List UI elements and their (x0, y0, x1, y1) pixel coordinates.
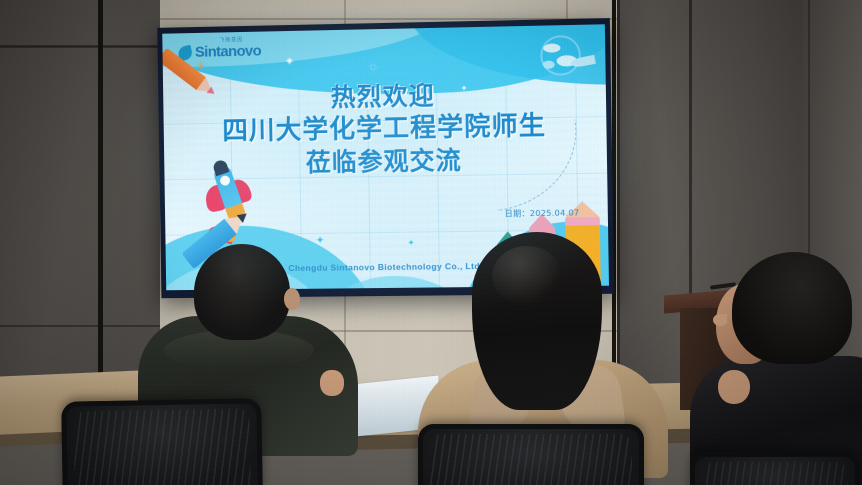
slide-title: 热烈欢迎 四川大学化学工程学院师生 莅临参观交流 (163, 77, 607, 182)
wall-trim-left (98, 0, 103, 392)
black-mesh-office-chair[interactable] (690, 452, 860, 485)
star-decoration: ✦ (285, 57, 294, 68)
slide-date-label: 日期：2025.04.07 (505, 207, 580, 219)
conference-room-scene: ✦ ✦ ✦ ✦ ✦ ✦ Sintanovo 飞驰基因 ✳ (0, 0, 862, 485)
sintanovo-logo: Sintanovo (178, 44, 261, 61)
star-decoration: ✦ (369, 63, 378, 74)
logo-chinese-tagline: 飞驰基因 (219, 36, 243, 43)
black-mesh-office-chair[interactable] (61, 398, 263, 485)
person-right (700, 252, 862, 485)
left-dark-wall-panel (0, 0, 160, 400)
logo-wordmark: Sintanovo (195, 44, 261, 60)
star-decoration: ✦ (407, 239, 415, 248)
black-mesh-office-chair[interactable] (418, 424, 644, 485)
